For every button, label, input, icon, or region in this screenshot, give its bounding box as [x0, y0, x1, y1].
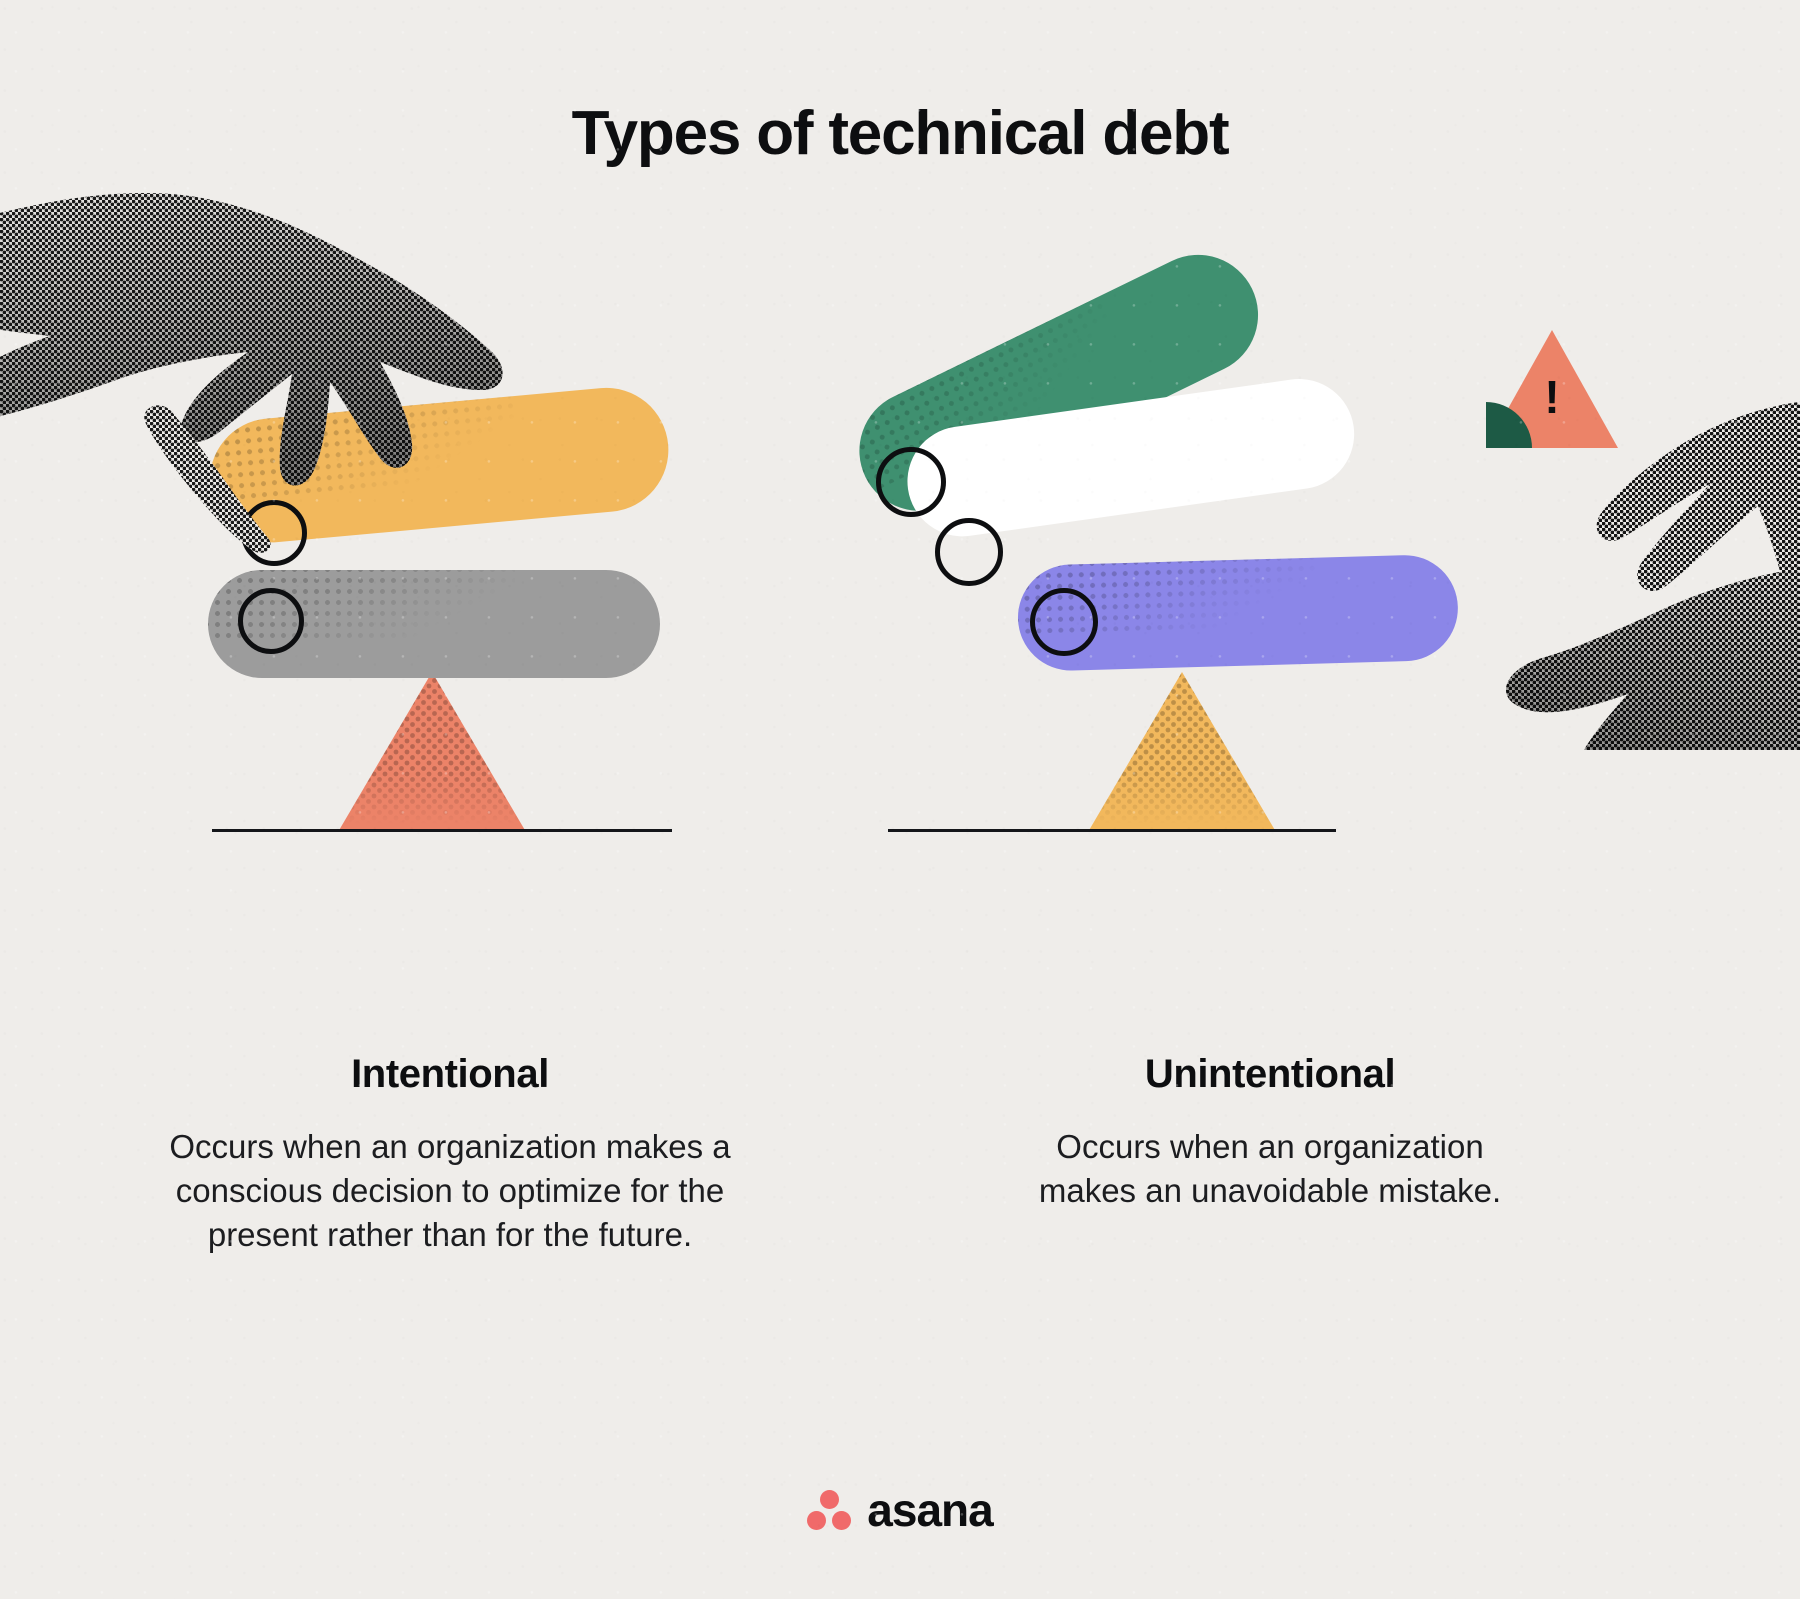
asana-logo-mark-icon [807, 1490, 851, 1530]
panel-intentional [0, 0, 900, 1599]
ground-line-left [212, 829, 672, 832]
body-intentional: Occurs when an organization makes a cons… [140, 1125, 760, 1258]
body-unintentional: Occurs when an organization makes an una… [1035, 1125, 1505, 1213]
page-title: Types of technical debt [0, 98, 1800, 169]
heading-unintentional: Unintentional [900, 1052, 1640, 1097]
bar-green-hole [876, 447, 946, 517]
fulcrum-left [338, 672, 526, 832]
bar-purple-hole [1030, 588, 1098, 656]
infographic-canvas: Types of technical debt [0, 0, 1800, 1599]
caption-unintentional: Unintentional Occurs when an organizatio… [900, 1052, 1640, 1213]
hand-left-icon [0, 176, 516, 556]
hand-right-icon [1302, 390, 1800, 750]
asana-wordmark: asana [867, 1483, 992, 1537]
fulcrum-right [1088, 672, 1276, 832]
caption-intentional: Intentional Occurs when an organization … [80, 1052, 820, 1258]
bar-gray-hole [238, 588, 304, 654]
heading-intentional: Intentional [80, 1052, 820, 1097]
asana-dot-bottom-right-icon [832, 1511, 851, 1530]
asana-logo: asana [0, 1483, 1800, 1537]
ground-line-right [888, 829, 1336, 832]
asana-dot-bottom-left-icon [807, 1511, 826, 1530]
bar-white-hole [935, 518, 1003, 586]
asana-dot-top-icon [820, 1490, 839, 1509]
panel-unintentional [900, 0, 1800, 1599]
